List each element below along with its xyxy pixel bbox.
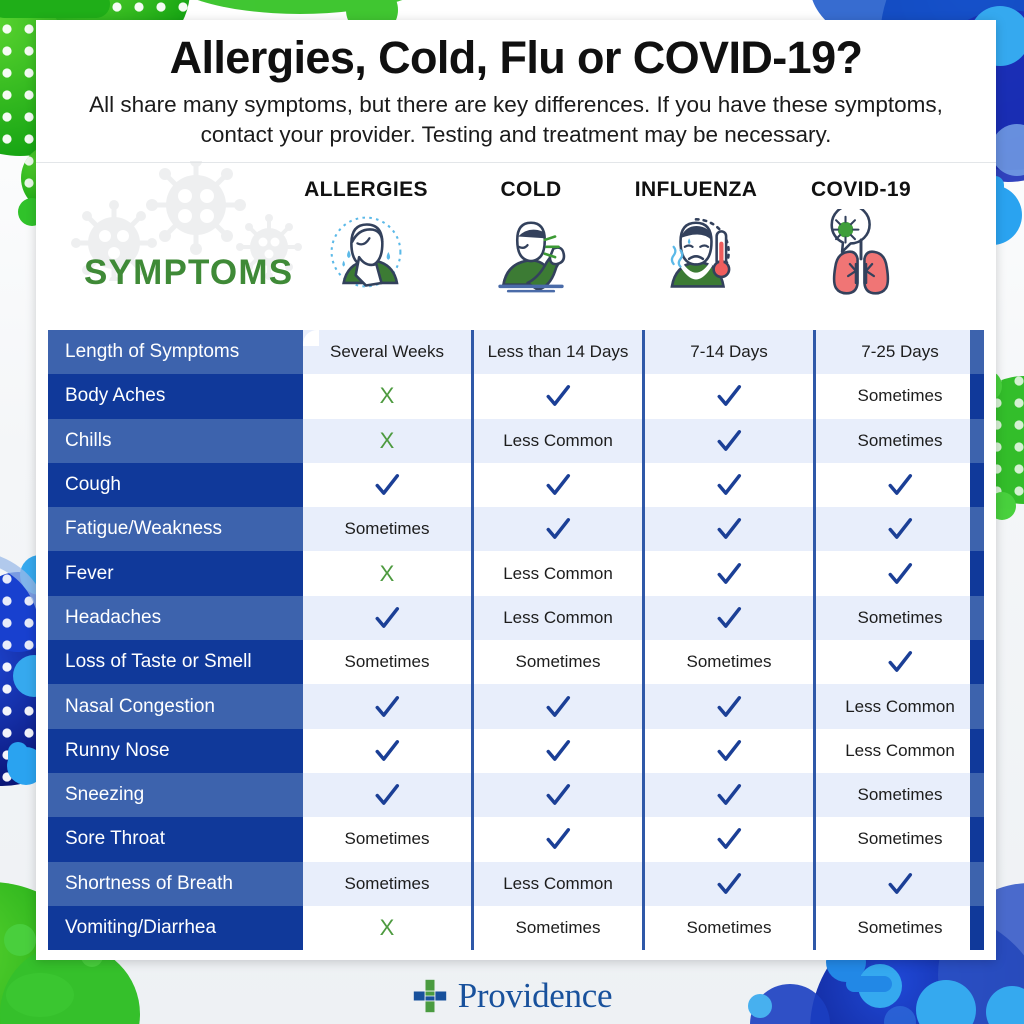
- check-icon: [716, 428, 742, 454]
- header-band: Allergies, Cold, Flu or COVID-19? All sh…: [36, 20, 996, 163]
- table-row: FeverXLess Common: [48, 551, 984, 595]
- cell-covid-19: Sometimes: [816, 773, 984, 817]
- person-fever-thermometer-icon: [613, 206, 779, 298]
- person-sneezing-tissue-icon: [283, 206, 449, 298]
- row-label: Cough: [48, 463, 303, 507]
- row-label: Length of Symptoms: [48, 330, 303, 374]
- row-cells: SometimesLess Common: [303, 862, 984, 906]
- cell-text: Sometimes: [686, 918, 771, 938]
- cell-text: Less Common: [503, 564, 613, 584]
- row-label: Loss of Taste or Smell: [48, 640, 303, 684]
- table-row: Shortness of BreathSometimesLess Common: [48, 862, 984, 906]
- x-mark-icon: X: [380, 917, 395, 939]
- row-cells: XLess Common: [303, 551, 984, 595]
- cell-text: Less Common: [503, 874, 613, 894]
- cell-covid-19: Sometimes: [816, 596, 984, 640]
- check-icon: [545, 516, 571, 542]
- brand-name: Providence: [458, 976, 612, 1016]
- check-icon: [716, 782, 742, 808]
- cell-cold: Less Common: [474, 551, 645, 595]
- check-icon: [545, 383, 571, 409]
- column-header-influenza: INFLUENZA: [613, 163, 779, 311]
- check-icon: [716, 516, 742, 542]
- check-icon: [887, 649, 913, 675]
- check-icon: [374, 694, 400, 720]
- row-label: Headaches: [48, 596, 303, 640]
- check-icon: [545, 826, 571, 852]
- cell-text: Several Weeks: [330, 342, 444, 362]
- cell-covid-19: Sometimes: [816, 906, 984, 950]
- cell-covid-19: 7-25 Days: [816, 330, 984, 374]
- table-row: Cough: [48, 463, 984, 507]
- cell-text: 7-25 Days: [861, 342, 938, 362]
- cell-text: Less Common: [503, 431, 613, 451]
- cell-text: Sometimes: [344, 874, 429, 894]
- cell-influenza: [645, 862, 816, 906]
- table-row: Nasal CongestionLess Common: [48, 684, 984, 728]
- row-label: Sore Throat: [48, 817, 303, 861]
- cell-allergies: X: [303, 374, 474, 418]
- cell-allergies: X: [303, 419, 474, 463]
- table-row: ChillsXLess CommonSometimes: [48, 419, 984, 463]
- column-label-covid19: COVID-19: [778, 178, 944, 202]
- table-body: Length of SymptomsSeveral WeeksLess than…: [48, 330, 984, 950]
- cell-covid-19: Less Common: [816, 729, 984, 773]
- cell-influenza: [645, 463, 816, 507]
- x-mark-icon: X: [380, 563, 395, 585]
- cell-covid-19: Sometimes: [816, 374, 984, 418]
- cell-text: Sometimes: [857, 431, 942, 451]
- cell-cold: Sometimes: [474, 906, 645, 950]
- table-row: Fatigue/WeaknessSometimes: [48, 507, 984, 551]
- table-row: Loss of Taste or SmellSometimesSometimes…: [48, 640, 984, 684]
- check-icon: [887, 871, 913, 897]
- check-icon: [716, 472, 742, 498]
- check-icon: [545, 694, 571, 720]
- row-label: Sneezing: [48, 773, 303, 817]
- column-label-allergies: ALLERGIES: [283, 178, 449, 202]
- cell-covid-19: Less Common: [816, 684, 984, 728]
- table-row: SneezingSometimes: [48, 773, 984, 817]
- person-coughing-icon: [448, 206, 614, 298]
- cell-influenza: [645, 507, 816, 551]
- page-subtitle: All share many symptoms, but there are k…: [66, 90, 966, 149]
- cell-allergies: Sometimes: [303, 817, 474, 861]
- row-label: Fever: [48, 551, 303, 595]
- cell-allergies: X: [303, 551, 474, 595]
- cell-influenza: Sometimes: [645, 906, 816, 950]
- providence-cross-logo-icon: [412, 978, 448, 1014]
- row-label: Body Aches: [48, 374, 303, 418]
- row-cells: Several WeeksLess than 14 Days7-14 Days7…: [303, 330, 984, 374]
- cell-text: Less Common: [845, 741, 955, 761]
- cell-text: Sometimes: [686, 652, 771, 672]
- symptoms-heading: SYMPTOMS: [84, 253, 293, 293]
- cell-covid-19: Sometimes: [816, 419, 984, 463]
- content-card: Allergies, Cold, Flu or COVID-19? All sh…: [36, 20, 996, 960]
- cell-allergies: Sometimes: [303, 640, 474, 684]
- cell-allergies: [303, 729, 474, 773]
- cell-cold: Less Common: [474, 596, 645, 640]
- cell-covid-19: [816, 551, 984, 595]
- row-cells: Less Common: [303, 684, 984, 728]
- footer-brand: Providence: [0, 976, 1024, 1016]
- infographic-page: Allergies, Cold, Flu or COVID-19? All sh…: [0, 0, 1024, 1024]
- cell-covid-19: Sometimes: [816, 817, 984, 861]
- check-icon: [887, 472, 913, 498]
- table-row: HeadachesLess CommonSometimes: [48, 596, 984, 640]
- column-label-cold: COLD: [448, 178, 614, 202]
- row-label: Chills: [48, 419, 303, 463]
- cell-allergies: [303, 684, 474, 728]
- row-label: Runny Nose: [48, 729, 303, 773]
- cell-text: Sometimes: [515, 918, 600, 938]
- cell-cold: Less Common: [474, 862, 645, 906]
- column-header-allergies: ALLERGIES: [283, 163, 449, 311]
- row-cells: [303, 463, 984, 507]
- virus-lungs-icon: [778, 206, 944, 298]
- check-icon: [716, 694, 742, 720]
- check-icon: [374, 605, 400, 631]
- row-label: Vomiting/Diarrhea: [48, 906, 303, 950]
- cell-cold: Sometimes: [474, 640, 645, 684]
- cell-allergies: X: [303, 906, 474, 950]
- row-cells: Less CommonSometimes: [303, 596, 984, 640]
- column-header-cold: COLD: [448, 163, 614, 311]
- cell-cold: [474, 773, 645, 817]
- check-icon: [545, 738, 571, 764]
- cell-influenza: [645, 551, 816, 595]
- cell-influenza: [645, 374, 816, 418]
- row-cells: Sometimes: [303, 507, 984, 551]
- table-row: Runny NoseLess Common: [48, 729, 984, 773]
- cell-allergies: [303, 773, 474, 817]
- cell-covid-19: [816, 463, 984, 507]
- row-label: Nasal Congestion: [48, 684, 303, 728]
- cell-allergies: Sometimes: [303, 507, 474, 551]
- check-icon: [716, 826, 742, 852]
- row-cells: SometimesSometimesSometimes: [303, 640, 984, 684]
- check-icon: [716, 561, 742, 587]
- column-header-zone: SYMPTOMS ALLERGIES: [36, 163, 996, 311]
- check-icon: [887, 561, 913, 587]
- check-icon: [716, 738, 742, 764]
- cell-text: Sometimes: [857, 386, 942, 406]
- page-title: Allergies, Cold, Flu or COVID-19?: [58, 34, 974, 81]
- check-icon: [374, 738, 400, 764]
- cell-text: Sometimes: [857, 785, 942, 805]
- check-icon: [887, 516, 913, 542]
- cell-allergies: Sometimes: [303, 862, 474, 906]
- cell-text: Sometimes: [857, 918, 942, 938]
- row-cells: XLess CommonSometimes: [303, 419, 984, 463]
- cell-cold: [474, 463, 645, 507]
- row-cells: Less Common: [303, 729, 984, 773]
- table-row: Sore ThroatSometimesSometimes: [48, 817, 984, 861]
- cell-influenza: [645, 773, 816, 817]
- cell-influenza: [645, 596, 816, 640]
- check-icon: [545, 782, 571, 808]
- table-row: Length of SymptomsSeveral WeeksLess than…: [48, 330, 984, 374]
- cell-text: Sometimes: [344, 652, 429, 672]
- cell-cold: [474, 817, 645, 861]
- cell-cold: [474, 507, 645, 551]
- cell-text: Sometimes: [857, 608, 942, 628]
- cell-covid-19: [816, 862, 984, 906]
- cell-text: Sometimes: [857, 829, 942, 849]
- column-header-covid19: COVID-19: [778, 163, 944, 311]
- cell-cold: [474, 729, 645, 773]
- cell-text: Sometimes: [515, 652, 600, 672]
- cell-influenza: [645, 684, 816, 728]
- symptom-comparison-table: Length of SymptomsSeveral WeeksLess than…: [48, 330, 984, 950]
- cell-text: Less than 14 Days: [488, 342, 629, 362]
- cell-text: 7-14 Days: [690, 342, 767, 362]
- x-mark-icon: X: [380, 385, 395, 407]
- cell-cold: [474, 684, 645, 728]
- cell-allergies: [303, 463, 474, 507]
- column-label-influenza: INFLUENZA: [613, 178, 779, 202]
- cell-cold: Less than 14 Days: [474, 330, 645, 374]
- row-label: Shortness of Breath: [48, 862, 303, 906]
- cell-influenza: [645, 817, 816, 861]
- row-label: Fatigue/Weakness: [48, 507, 303, 551]
- cell-influenza: 7-14 Days: [645, 330, 816, 374]
- cell-cold: [474, 374, 645, 418]
- check-icon: [374, 472, 400, 498]
- cell-influenza: [645, 729, 816, 773]
- cell-influenza: [645, 419, 816, 463]
- check-icon: [716, 871, 742, 897]
- row-cells: Sometimes: [303, 773, 984, 817]
- table-row: Body AchesXSometimes: [48, 374, 984, 418]
- check-icon: [545, 472, 571, 498]
- cell-text: Sometimes: [344, 519, 429, 539]
- cell-text: Less Common: [845, 697, 955, 717]
- cell-covid-19: [816, 507, 984, 551]
- check-icon: [716, 605, 742, 631]
- cell-text: Less Common: [503, 608, 613, 628]
- cell-influenza: Sometimes: [645, 640, 816, 684]
- cell-covid-19: [816, 640, 984, 684]
- cell-cold: Less Common: [474, 419, 645, 463]
- row-cells: XSometimesSometimesSometimes: [303, 906, 984, 950]
- row-cells: SometimesSometimes: [303, 817, 984, 861]
- check-icon: [716, 383, 742, 409]
- cell-text: Sometimes: [344, 829, 429, 849]
- cell-allergies: Several Weeks: [303, 330, 474, 374]
- check-icon: [374, 782, 400, 808]
- row-cells: XSometimes: [303, 374, 984, 418]
- cell-allergies: [303, 596, 474, 640]
- x-mark-icon: X: [380, 430, 395, 452]
- table-row: Vomiting/DiarrheaXSometimesSometimesSome…: [48, 906, 984, 950]
